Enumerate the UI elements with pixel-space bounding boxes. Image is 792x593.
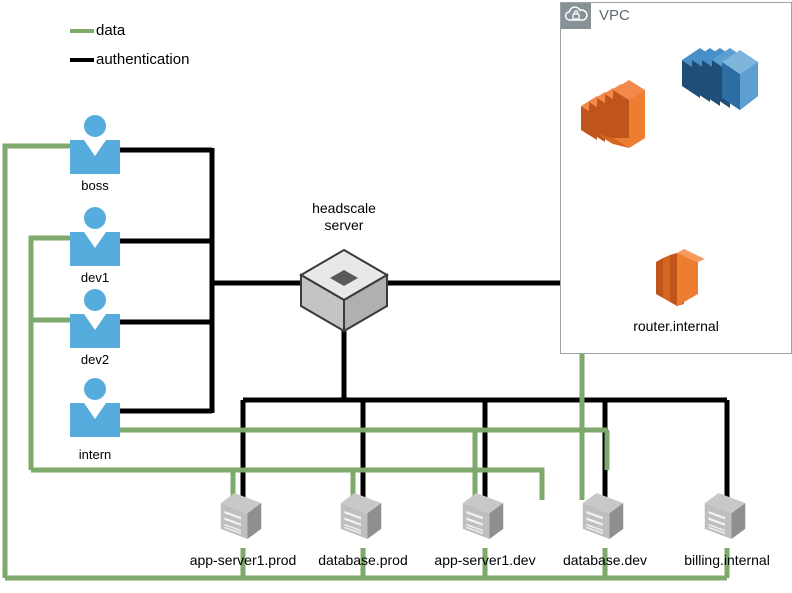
server-node-app-server1-dev[interactable] xyxy=(460,490,506,542)
aws-instance-cluster-blue-icon[interactable] xyxy=(676,38,768,124)
legend-item-authentication: authentication xyxy=(70,51,189,68)
user-label-boss: boss xyxy=(81,178,108,193)
user-label-dev1: dev1 xyxy=(81,270,109,285)
user-collar-icon xyxy=(84,140,106,156)
user-label-intern: intern xyxy=(79,447,112,462)
vpc-title-label: VPC xyxy=(599,7,630,24)
user-collar-icon xyxy=(84,232,106,248)
user-node-dev1[interactable] xyxy=(70,207,120,253)
network-diagram-canvas: data authentication boss dev1 dev2 inter… xyxy=(0,0,792,593)
legend-swatch-authentication-icon xyxy=(70,58,94,62)
legend-item-data: data xyxy=(70,22,125,39)
router-internal-label: router.internal xyxy=(633,318,719,335)
server-node-database-dev[interactable] xyxy=(580,490,626,542)
user-head-icon xyxy=(84,378,106,400)
server-node-billing-internal[interactable] xyxy=(702,490,748,542)
headscale-server-label-line2: server xyxy=(325,217,364,234)
server-label-app-server1-dev: app-server1.dev xyxy=(434,552,535,569)
vpc-header-badge xyxy=(561,3,591,29)
server-label-billing-internal: billing.internal xyxy=(684,552,770,569)
legend-label-data: data xyxy=(96,22,125,39)
user-head-icon xyxy=(84,207,106,229)
server-label-database-prod: database.prod xyxy=(318,552,408,569)
user-collar-icon xyxy=(84,403,106,419)
user-node-intern[interactable] xyxy=(70,378,120,424)
server-label-app-server1-prod: app-server1.prod xyxy=(190,552,297,569)
user-collar-icon xyxy=(84,314,106,330)
headscale-server-label-line1: headscale xyxy=(312,200,376,217)
legend-label-authentication: authentication xyxy=(96,51,189,68)
cloud-lock-icon xyxy=(561,3,591,29)
user-head-icon xyxy=(84,289,106,311)
aws-instance-orange-icon[interactable] xyxy=(650,246,712,310)
server-node-database-prod[interactable] xyxy=(338,490,384,542)
user-label-dev2: dev2 xyxy=(81,352,109,367)
legend-swatch-data-icon xyxy=(70,29,94,33)
user-head-icon xyxy=(84,115,106,137)
server-label-database-dev: database.dev xyxy=(563,552,647,569)
server-node-app-server1-prod[interactable] xyxy=(218,490,264,542)
user-node-boss[interactable] xyxy=(70,115,120,161)
aws-instance-cluster-orange-icon[interactable] xyxy=(575,68,661,156)
headscale-server-node[interactable] xyxy=(298,248,390,334)
user-node-dev2[interactable] xyxy=(70,289,120,335)
